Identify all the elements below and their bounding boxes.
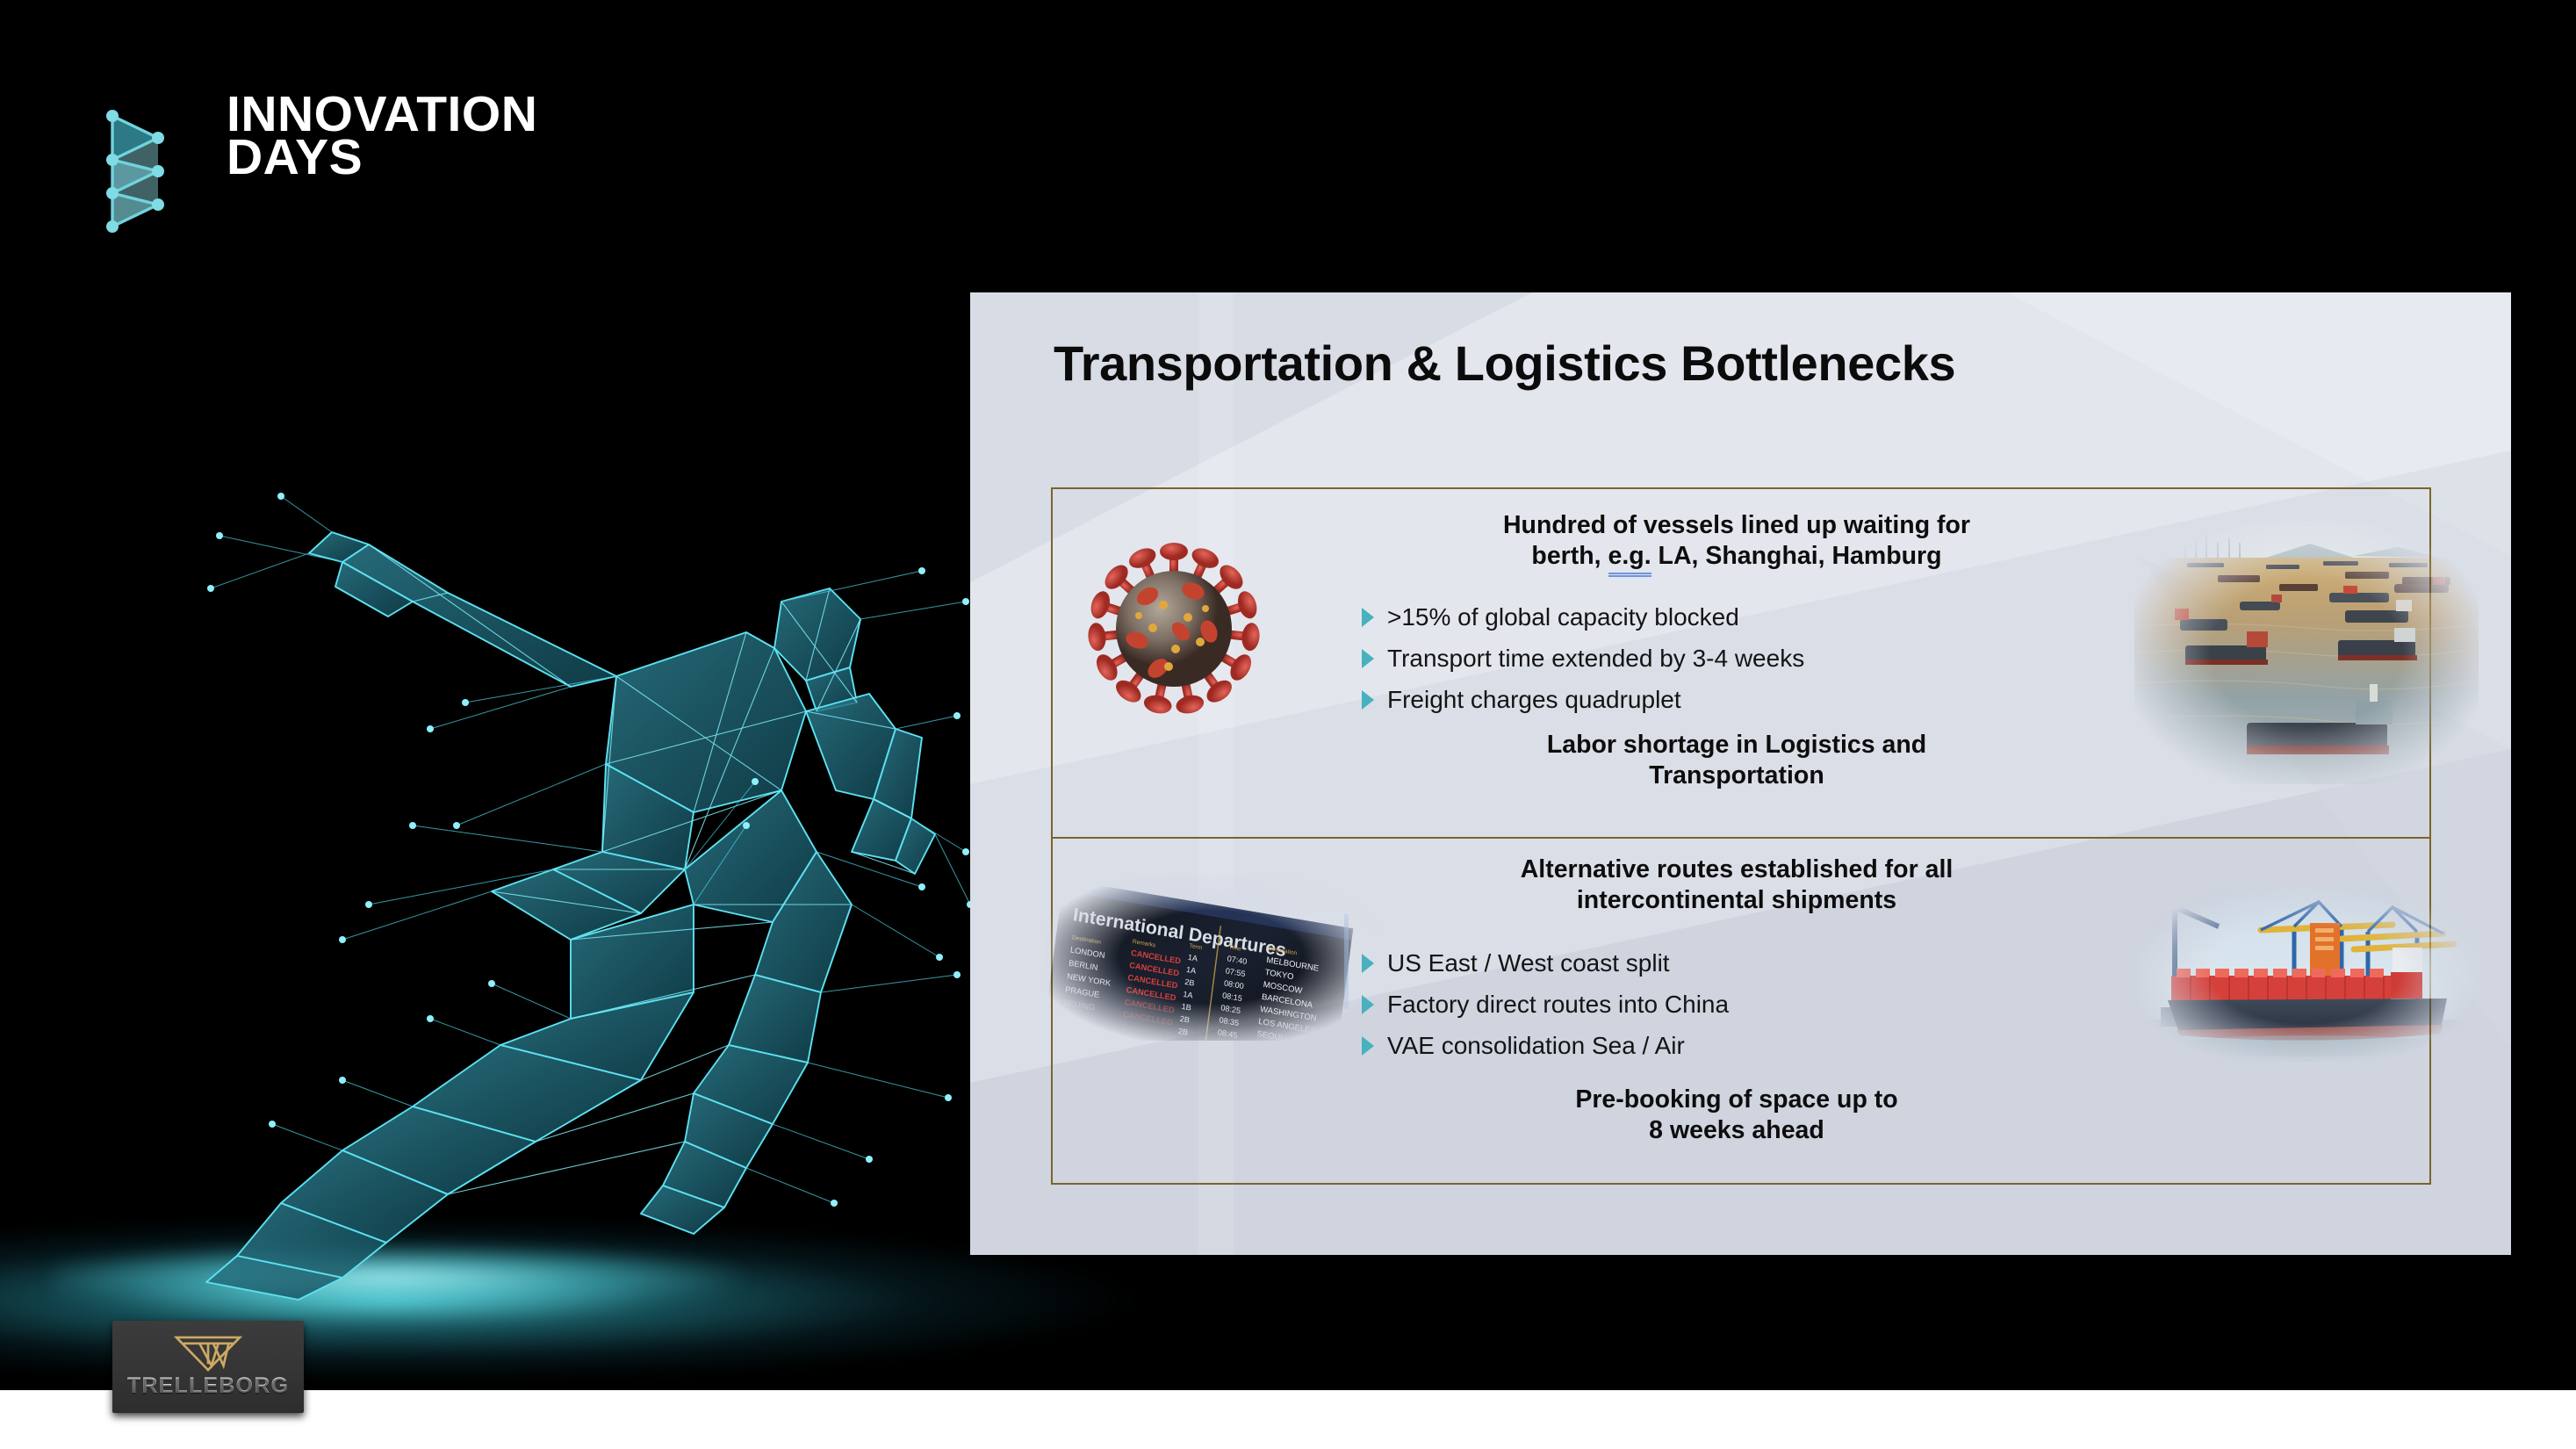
panel1-eg-underlined: e.g. [1608,542,1651,570]
list-item: Freight charges quadruplet [1358,680,2131,721]
panel2-footer: Pre-booking of space up to 8 weeks ahead [1342,1085,2131,1147]
panel1-left-media [1053,489,1342,837]
panel1-right-media [2131,489,2429,837]
panel2-heading-line1: Alternative routes established for all [1342,854,2131,885]
panel1-heading-pre: berth, [1531,542,1608,570]
panel-bottlenecks: Hundred of vessels lined up waiting for … [1051,487,2431,839]
panel1-footer-line2: Transportation [1342,761,2131,792]
coronavirus-icon [1077,537,1270,721]
bullet-label: Transport time extended by 3-4 weeks [1387,645,1804,673]
panel1-bullet-list: >15% of global capacity blocked Transpor… [1342,597,2131,721]
bullet-label: Freight charges quadruplet [1387,687,1681,714]
innovation-days-wordmark: INNOVATION DAYS [227,93,537,179]
panel2-heading-line2: intercontinental shipments [1342,885,2131,916]
content-card: Transportation & Logistics Bottlenecks [970,292,2511,1255]
bullet-label: US East / West coast split [1387,950,1670,977]
panel2-left-media: International Departures DestinationRema… [1053,837,1342,1183]
arrow-bullet-icon [1362,690,1374,710]
low-poly-running-figure [79,413,975,1308]
arrow-bullet-icon [1362,954,1374,973]
vessels-anchored-image [2134,521,2479,784]
arrow-bullet-icon [1362,608,1374,627]
arrow-bullet-icon [1362,649,1374,668]
presentation-slide: INNOVATION DAYS [0,0,2576,1449]
panel2-footer-line2: 8 weeks ahead [1342,1115,2131,1147]
list-item: VAE consolidation Sea / Air [1358,1026,2131,1067]
panel1-heading: Hundred of vessels lined up waiting for … [1342,510,2131,573]
panel2-body: Alternative routes established for all i… [1342,837,2131,1183]
bullet-label: >15% of global capacity blocked [1387,604,1739,631]
panel-countermeasures: International Departures DestinationRema… [1051,837,2431,1185]
bullet-label: Factory direct routes into China [1387,991,1729,1019]
panel1-footer-line1: Labor shortage in Logistics and [1342,730,2131,761]
panel2-heading: Alternative routes established for all i… [1342,854,2131,917]
svg-text:1B: 1B [1181,1002,1191,1013]
list-item: Transport time extended by 3-4 weeks [1358,638,2131,680]
panel1-body: Hundred of vessels lined up waiting for … [1342,489,2131,837]
svg-text:2B: 2B [1184,977,1195,988]
bullet-label: VAE consolidation Sea / Air [1387,1033,1685,1060]
list-item: Factory direct routes into China [1358,984,2131,1026]
departures-board-photo: International Departures DestinationRema… [1046,874,1378,1041]
panel1-heading-line1: Hundred of vessels lined up waiting for [1342,510,2131,541]
panel2-footer-line1: Pre-booking of space up to [1342,1085,2131,1116]
panel1-heading-line2: berth, e.g. LA, Shanghai, Hamburg [1342,541,2131,572]
coronavirus-image [1077,537,1270,721]
svg-text:2B: 2B [1179,1014,1190,1025]
container-ship-image [2138,888,2473,1062]
trelleborg-wordmark: TRELLEBORG [127,1373,289,1399]
vessels-anchored-photo [2134,521,2479,784]
panel2-right-media [2131,837,2429,1183]
arrow-bullet-icon [1362,995,1374,1014]
list-item: US East / West coast split [1358,943,2131,984]
panel1-footer: Labor shortage in Logistics and Transpor… [1342,730,2131,792]
logo-line-2: DAYS [227,136,537,179]
svg-text:2B: 2B [1177,1027,1188,1037]
departures-board-image: International Departures DestinationRema… [1046,874,1378,1041]
panel1-heading-post: LA, Shanghai, Hamburg [1651,542,1942,570]
trelleborg-logo: TRELLEBORG [112,1321,304,1413]
container-ship-photo [2138,888,2473,1062]
panel2-bullet-list: US East / West coast split Factory direc… [1342,943,2131,1067]
page-title: Transportation & Logistics Bottlenecks [1054,335,2423,392]
innovation-days-node-mark [104,105,198,235]
bottom-white-strip [0,1390,2576,1449]
arrow-bullet-icon [1362,1036,1374,1056]
trelleborg-triangle-w-mark [174,1335,242,1372]
list-item: >15% of global capacity blocked [1358,597,2131,638]
innovation-days-logo: INNOVATION DAYS [104,105,648,237]
